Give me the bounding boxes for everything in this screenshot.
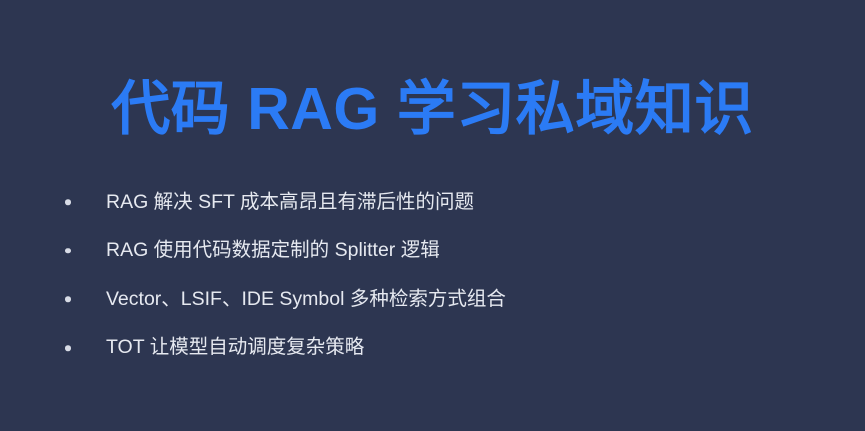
list-item: Vector、LSIF、IDE Symbol 多种检索方式组合 bbox=[58, 275, 818, 324]
bullet-dot-icon bbox=[65, 200, 71, 206]
list-item: RAG 使用代码数据定制的 Splitter 逻辑 bbox=[58, 227, 818, 276]
bullet-dot-icon bbox=[65, 345, 71, 351]
list-item-label: RAG 解决 SFT 成本高昂且有滞后性的问题 bbox=[106, 190, 474, 215]
list-item-label: TOT 让模型自动调度复杂策略 bbox=[106, 335, 364, 360]
list-item-label: Vector、LSIF、IDE Symbol 多种检索方式组合 bbox=[106, 287, 506, 312]
presentation-slide: 代码 RAG 学习私域知识 RAG 解决 SFT 成本高昂且有滞后性的问题 RA… bbox=[0, 0, 865, 431]
bullet-list: RAG 解决 SFT 成本高昂且有滞后性的问题 RAG 使用代码数据定制的 Sp… bbox=[58, 178, 818, 372]
list-item-label: RAG 使用代码数据定制的 Splitter 逻辑 bbox=[106, 238, 440, 263]
list-item: TOT 让模型自动调度复杂策略 bbox=[58, 324, 818, 373]
page-title: 代码 RAG 学习私域知识 bbox=[0, 76, 865, 142]
bullet-dot-icon bbox=[65, 248, 71, 254]
list-item: RAG 解决 SFT 成本高昂且有滞后性的问题 bbox=[58, 178, 818, 227]
bullet-dot-icon bbox=[65, 297, 71, 303]
